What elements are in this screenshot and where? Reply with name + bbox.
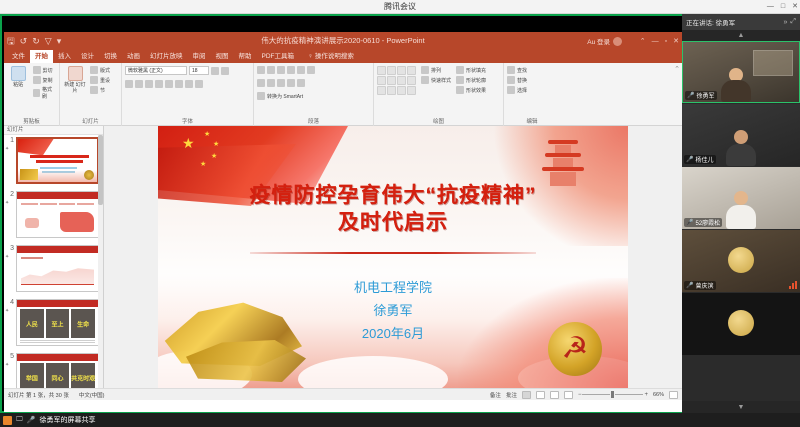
align-right-icon[interactable] bbox=[277, 79, 285, 87]
cut-button[interactable]: 剪切 bbox=[33, 66, 56, 74]
group-label-slides: 幻灯片 bbox=[60, 117, 121, 125]
microphone-muted-icon: 🎤 bbox=[686, 156, 693, 163]
smartart-icon bbox=[257, 92, 265, 100]
cut-icon bbox=[33, 66, 41, 74]
ribbon-group-editing: 查找 替换 选择 编辑 bbox=[504, 63, 560, 126]
paste-label: 粘贴 bbox=[13, 82, 23, 88]
slide-count-label: 幻灯片 第 1 张，共 30 张 bbox=[4, 391, 69, 399]
tell-me-label: 操作说明搜索 bbox=[315, 51, 354, 62]
subtitle-line-3: 2020年6月 bbox=[158, 322, 628, 345]
animation-star-icon: ✦ bbox=[5, 308, 9, 314]
comments-button[interactable]: 批注 bbox=[506, 391, 517, 399]
title-divider bbox=[250, 252, 536, 254]
paste-button[interactable]: 粘贴 bbox=[7, 66, 30, 88]
account-area[interactable]: Au 登录 bbox=[587, 34, 622, 48]
zoom-slider[interactable]: − + bbox=[578, 391, 648, 398]
participant-name: 徐勇军 bbox=[696, 91, 714, 100]
zoom-in-icon[interactable]: + bbox=[644, 392, 648, 398]
arrange-button[interactable]: 排列 bbox=[421, 66, 451, 74]
ribbon-group-font: 微软雅黑 (正文) 18 bbox=[122, 63, 254, 126]
copy-button[interactable]: 复制 bbox=[33, 76, 56, 84]
find-label: 查找 bbox=[517, 67, 527, 74]
quick-styles-button[interactable]: 快速样式 bbox=[421, 76, 451, 84]
star-icon: ★ bbox=[204, 130, 210, 138]
group-label-paragraph: 段落 bbox=[254, 117, 373, 125]
ribbon-group-paragraph: 转换为 SmartArt 段落 bbox=[254, 63, 374, 126]
microphone-icon[interactable]: 🎤 bbox=[27, 416, 36, 424]
shape-outline-icon bbox=[456, 76, 464, 84]
shape-callout-icon[interactable] bbox=[377, 86, 386, 95]
star-icon: ★ bbox=[213, 140, 219, 148]
zoom-slider-handle[interactable] bbox=[611, 391, 614, 398]
format-painter-icon bbox=[33, 89, 40, 97]
shape-arrow-icon[interactable] bbox=[407, 66, 416, 75]
zoom-out-icon[interactable]: − bbox=[578, 392, 582, 398]
group-label-font: 字体 bbox=[122, 117, 253, 125]
chevrons-right-icon[interactable]: » bbox=[783, 19, 787, 26]
shape-outline-button[interactable]: 形状轮廓 bbox=[456, 76, 486, 84]
thumbnail-image: 举国 同心 共克时艰 bbox=[16, 353, 99, 388]
format-painter-button[interactable]: 格式刷 bbox=[33, 86, 56, 100]
shape-fill-label: 形状填充 bbox=[466, 67, 486, 74]
participant-tile-3[interactable]: 🎤 曾庆滨 bbox=[682, 230, 800, 292]
screen-share-label: 徐勇军的屏幕共享 bbox=[39, 415, 95, 425]
subtitle-line-2: 徐勇军 bbox=[158, 299, 628, 322]
shape-outline-label: 形状轮廓 bbox=[466, 77, 486, 84]
normal-view-icon[interactable] bbox=[522, 391, 531, 399]
tab-help[interactable]: 帮助 bbox=[234, 50, 257, 63]
shape-oval-icon[interactable] bbox=[387, 66, 396, 75]
animation-star-icon: ✦ bbox=[5, 200, 9, 206]
tencent-meeting-icon bbox=[3, 416, 12, 425]
slide-title[interactable]: 疫情防控孕育伟大“抗疫精神” 及时代启示 bbox=[158, 182, 628, 236]
new-slide-label: 新建 幻灯片 bbox=[63, 82, 87, 94]
restore-icon[interactable]: ▫ bbox=[665, 38, 667, 45]
participant-name: 曾庆滨 bbox=[695, 281, 713, 290]
cut-label: 剪切 bbox=[43, 67, 53, 74]
shapes-gallery[interactable] bbox=[377, 66, 416, 95]
thumbnail-scrollbar-thumb[interactable] bbox=[98, 135, 103, 205]
find-icon bbox=[507, 66, 515, 74]
language-label[interactable]: 中文(中国) bbox=[79, 391, 105, 399]
tencent-meeting-titlebar: 腾讯会议 — □ ✕ bbox=[0, 0, 800, 14]
align-left-icon[interactable] bbox=[257, 79, 265, 87]
section-icon bbox=[90, 86, 98, 94]
thumbnail-pane-header: 幻灯片 bbox=[4, 126, 103, 135]
bold-icon[interactable] bbox=[125, 80, 133, 88]
shape-rectangle-icon[interactable] bbox=[377, 66, 386, 75]
participant-name-badge: 🎤 52廖霞松 bbox=[684, 218, 722, 227]
character-spacing-icon[interactable] bbox=[175, 80, 183, 88]
screen-share-bar: 🖵 🎤 徐勇军的屏幕共享 bbox=[0, 413, 800, 427]
participant-name-badge: 🎤 徐勇军 bbox=[685, 91, 717, 100]
thumbnail-number: 1 bbox=[6, 137, 16, 145]
shape-fill-icon bbox=[456, 66, 464, 74]
layout-icon bbox=[90, 66, 98, 74]
underline-icon[interactable] bbox=[145, 80, 153, 88]
powerpoint-titlebar: 🖫 ↺ ↻ ▽ ▾ 伟大的抗疫精神演讲展示2020-0610 - PowerPo… bbox=[4, 32, 682, 50]
thumbnail-number: 3 bbox=[6, 245, 16, 253]
replace-button[interactable]: 替换 bbox=[507, 76, 527, 84]
tab-review[interactable]: 审阅 bbox=[188, 50, 211, 63]
increase-indent-icon[interactable] bbox=[287, 66, 295, 74]
shared-screen-region: 🖫 ↺ ↻ ▽ ▾ 伟大的抗疫精神演讲展示2020-0610 - PowerPo… bbox=[0, 14, 682, 413]
tell-me-icon: ♀ bbox=[308, 51, 313, 62]
select-label: 选择 bbox=[517, 87, 527, 94]
pagoda-icon bbox=[540, 140, 586, 188]
popout-icon[interactable]: ⤢ bbox=[790, 18, 796, 26]
format-painter-label: 格式刷 bbox=[42, 86, 56, 100]
shape-triangle-icon[interactable] bbox=[397, 66, 406, 75]
reset-icon bbox=[90, 76, 98, 84]
slideshow-view-icon[interactable] bbox=[564, 391, 573, 399]
participant-name-badge: 🎤 曾庆滨 bbox=[684, 281, 716, 290]
font-color-icon[interactable] bbox=[195, 80, 203, 88]
thumbnail-number: 4 bbox=[6, 299, 16, 307]
ribbon-group-clipboard: 粘贴 剪切 复制 格式刷 bbox=[4, 63, 60, 126]
powerpoint-body: 幻灯片 1 ✦ 2 bbox=[4, 126, 682, 388]
shape-flowchart-icon[interactable] bbox=[387, 86, 396, 95]
powerpoint-status-bar: 幻灯片 第 1 张，共 30 张 中文(中国) 备注 批注 − + 66% bbox=[4, 388, 682, 400]
shape-star-icon[interactable] bbox=[397, 76, 406, 85]
slide-thumbnail-pane[interactable]: 幻灯片 1 ✦ 2 bbox=[4, 126, 104, 388]
italic-icon[interactable] bbox=[135, 80, 143, 88]
reset-button[interactable]: 重设 bbox=[90, 76, 110, 84]
decrease-indent-icon[interactable] bbox=[277, 66, 285, 74]
tab-insert[interactable]: 插入 bbox=[53, 50, 76, 63]
reading-view-icon[interactable] bbox=[550, 391, 559, 399]
participant-tile-4[interactable] bbox=[682, 293, 800, 355]
layout-button[interactable]: 版式 bbox=[90, 66, 110, 74]
columns-icon[interactable] bbox=[297, 79, 305, 87]
zoom-level-label[interactable]: 66% bbox=[653, 392, 664, 398]
account-label[interactable]: Au 登录 bbox=[587, 36, 610, 46]
shape-effects-label: 形状效果 bbox=[466, 87, 486, 94]
close-icon[interactable]: ✕ bbox=[673, 37, 679, 45]
shape-effects-icon bbox=[456, 86, 464, 94]
tab-file[interactable]: 文件 bbox=[7, 50, 30, 63]
thumbnail-image bbox=[16, 137, 99, 184]
slide-canvas-area: ★ ★ ★ ★ ★ bbox=[104, 126, 682, 388]
participant-tile-1[interactable]: 🎤 杨佳儿 bbox=[682, 104, 800, 166]
tab-pdf-toolkit[interactable]: PDF工具箱 bbox=[257, 50, 300, 63]
thumbnail-slide-1[interactable]: 1 ✦ bbox=[4, 135, 103, 189]
ribbon-group-slides: 新建 幻灯片 版式 重设 节 bbox=[60, 63, 122, 126]
thumbnail-slide-3[interactable]: 3 ✦ bbox=[4, 243, 103, 297]
reset-label: 重设 bbox=[100, 77, 110, 84]
numbering-icon[interactable] bbox=[267, 66, 275, 74]
copy-icon bbox=[33, 76, 41, 84]
thumbnail-slide-2[interactable]: 2 ✦ bbox=[4, 189, 103, 243]
shape-curve-icon[interactable] bbox=[387, 76, 396, 85]
scroll-down-button[interactable]: ▼ bbox=[682, 401, 800, 413]
justify-icon[interactable] bbox=[287, 79, 295, 87]
slide-title-line-1: 疫情防控孕育伟大“抗疫精神” bbox=[250, 184, 537, 207]
tencent-meeting-title: 腾讯会议 bbox=[0, 0, 800, 14]
smartart-label: 转换为 SmartArt bbox=[267, 93, 303, 100]
quick-styles-icon bbox=[421, 76, 429, 84]
font-name-input[interactable]: 微软雅黑 (正文) bbox=[125, 66, 187, 75]
thumbnail-slide-4[interactable]: 4 ✦ 人民 至上 生命 bbox=[4, 297, 103, 351]
participant-tiles: 🎤 徐勇军 🎤 杨佳儿 🎤 52廖霞松 bbox=[682, 41, 800, 401]
replace-icon bbox=[507, 76, 515, 84]
strikethrough-icon[interactable] bbox=[155, 80, 163, 88]
thumbnail-caption: 生命 bbox=[77, 320, 89, 329]
slide-subtitle[interactable]: 机电工程学院 徐勇军 2020年6月 bbox=[158, 276, 628, 345]
arrange-label: 排列 bbox=[431, 67, 441, 74]
tell-me-search[interactable]: ♀ 操作说明搜索 bbox=[303, 50, 359, 63]
thumbnail-caption: 共克时艰 bbox=[71, 374, 95, 383]
text-direction-icon[interactable] bbox=[307, 66, 315, 74]
minimize-icon[interactable]: — bbox=[652, 38, 659, 45]
change-case-icon[interactable] bbox=[185, 80, 193, 88]
animation-star-icon: ✦ bbox=[5, 254, 9, 260]
ribbon-display-options-icon[interactable]: ⌃ bbox=[640, 37, 646, 45]
thumbnail-caption: 人民 bbox=[26, 320, 38, 329]
thumbnail-caption: 举国 bbox=[26, 374, 38, 383]
select-button[interactable]: 选择 bbox=[507, 86, 527, 94]
increase-font-size-icon[interactable] bbox=[211, 67, 219, 75]
thumbnail-caption: 同心 bbox=[51, 374, 63, 383]
close-icon[interactable]: ✕ bbox=[792, 0, 798, 14]
volume-level-indicator bbox=[789, 281, 797, 289]
powerpoint-document-title: 伟大的抗疫精神演讲展示2020-0610 - PowerPoint bbox=[4, 32, 682, 50]
ribbon-tab-strip[interactable]: 文件 开始 插入 设计 切换 动画 幻灯片放映 审阅 视图 帮助 PDF工具箱 … bbox=[4, 50, 682, 63]
ribbon-group-drawing: 排列 快速样式 形状填充 bbox=[374, 63, 504, 126]
avatar[interactable] bbox=[613, 37, 622, 46]
microphone-muted-icon: 🎤 bbox=[686, 282, 693, 289]
thumbnail-number: 5 bbox=[6, 353, 16, 361]
section-button[interactable]: 节 bbox=[90, 86, 110, 94]
participant-tile-2[interactable]: 🎤 52廖霞松 bbox=[682, 167, 800, 229]
participant-panel: 正在讲话: 徐勇军 » ⤢ ▲ 🎤 徐勇军 🎤 杨佳儿 bbox=[682, 14, 800, 413]
group-label-clipboard: 剪贴板 bbox=[4, 117, 59, 125]
group-label-drawing: 绘图 bbox=[374, 117, 503, 125]
thumbnail-slide-5[interactable]: 5 ✦ 举国 同心 共克时艰 bbox=[4, 351, 103, 388]
slide-title-line-2: 及时代启示 bbox=[158, 209, 628, 236]
section-label: 节 bbox=[100, 87, 105, 94]
tab-slideshow[interactable]: 幻灯片放映 bbox=[145, 50, 188, 63]
shape-effects-button[interactable]: 形状效果 bbox=[456, 86, 486, 94]
participant-name-badge: 🎤 杨佳儿 bbox=[684, 155, 716, 164]
animation-star-icon: ✦ bbox=[5, 146, 9, 152]
shape-line-icon[interactable] bbox=[377, 76, 386, 85]
line-spacing-icon[interactable] bbox=[297, 66, 305, 74]
quick-styles-label: 快速样式 bbox=[431, 77, 451, 84]
tab-transitions[interactable]: 切换 bbox=[99, 50, 122, 63]
paste-icon bbox=[11, 66, 26, 81]
copy-label: 复制 bbox=[43, 77, 53, 84]
notes-button[interactable]: 备注 bbox=[490, 391, 501, 399]
convert-to-smartart-button[interactable]: 转换为 SmartArt bbox=[257, 92, 303, 100]
bullets-icon[interactable] bbox=[257, 66, 265, 74]
thumbnail-number: 2 bbox=[6, 191, 16, 199]
participant-name: 52廖霞松 bbox=[695, 218, 720, 227]
thumbnail-image bbox=[16, 191, 99, 238]
star-icon: ★ bbox=[200, 160, 206, 168]
tab-home[interactable]: 开始 bbox=[30, 50, 53, 63]
maximize-icon[interactable]: □ bbox=[781, 0, 785, 14]
participant-tile-0[interactable]: 🎤 徐勇军 bbox=[682, 41, 800, 103]
microphone-muted-icon: 🎤 bbox=[687, 92, 694, 99]
powerpoint-window-controls: ⌃ — ▫ ✕ bbox=[640, 34, 679, 48]
participant-name: 杨佳儿 bbox=[695, 155, 713, 164]
find-button[interactable]: 查找 bbox=[507, 66, 527, 74]
subtitle-line-1: 机电工程学院 bbox=[158, 276, 628, 299]
thumbnail-image bbox=[16, 245, 99, 292]
layout-label: 版式 bbox=[100, 67, 110, 74]
arrange-icon bbox=[421, 66, 429, 74]
minimize-icon[interactable]: — bbox=[767, 0, 774, 14]
decrease-font-size-icon[interactable] bbox=[221, 67, 229, 75]
ribbon: 粘贴 剪切 复制 格式刷 bbox=[4, 63, 682, 126]
font-size-input[interactable]: 18 bbox=[189, 66, 209, 75]
avatar bbox=[728, 247, 754, 273]
star-icon: ★ bbox=[182, 135, 195, 152]
align-center-icon[interactable] bbox=[267, 79, 275, 87]
powerpoint-window: 🖫 ↺ ↻ ▽ ▾ 伟大的抗疫精神演讲展示2020-0610 - PowerPo… bbox=[4, 32, 682, 412]
fit-to-window-icon[interactable] bbox=[669, 391, 678, 399]
shape-banner-icon[interactable] bbox=[407, 76, 416, 85]
shape-block-icon[interactable] bbox=[397, 86, 406, 95]
scroll-up-button[interactable]: ▲ bbox=[682, 30, 800, 41]
shape-more-icon[interactable] bbox=[407, 86, 416, 95]
thumbnail-caption: 至上 bbox=[51, 320, 63, 329]
microphone-muted-icon: 🎤 bbox=[686, 219, 693, 226]
tencent-window-controls: — □ ✕ bbox=[767, 0, 798, 14]
speaking-header: 正在讲话: 徐勇军 » ⤢ bbox=[682, 14, 800, 30]
collapse-ribbon-icon[interactable]: ⌃ bbox=[674, 65, 680, 73]
slide-1[interactable]: ★ ★ ★ ★ ★ bbox=[158, 126, 628, 388]
group-label-editing: 编辑 bbox=[504, 117, 560, 125]
select-icon bbox=[507, 86, 515, 94]
tab-animations[interactable]: 动画 bbox=[122, 50, 145, 63]
text-shadow-icon[interactable] bbox=[165, 80, 173, 88]
animation-star-icon: ✦ bbox=[5, 362, 9, 368]
tab-design[interactable]: 设计 bbox=[76, 50, 99, 63]
new-slide-icon bbox=[68, 66, 83, 81]
replace-label: 替换 bbox=[517, 77, 527, 84]
speaking-label: 正在讲话: 徐勇军 bbox=[686, 17, 780, 27]
star-icon: ★ bbox=[211, 152, 217, 160]
avatar bbox=[728, 310, 754, 336]
tab-view[interactable]: 视图 bbox=[211, 50, 234, 63]
shape-fill-button[interactable]: 形状填充 bbox=[456, 66, 486, 74]
new-slide-button[interactable]: 新建 幻灯片 bbox=[63, 66, 87, 94]
screen-share-icon[interactable]: 🖵 bbox=[16, 416, 23, 424]
thumbnail-image: 人民 至上 生命 bbox=[16, 299, 99, 346]
slide-sorter-view-icon[interactable] bbox=[536, 391, 545, 399]
